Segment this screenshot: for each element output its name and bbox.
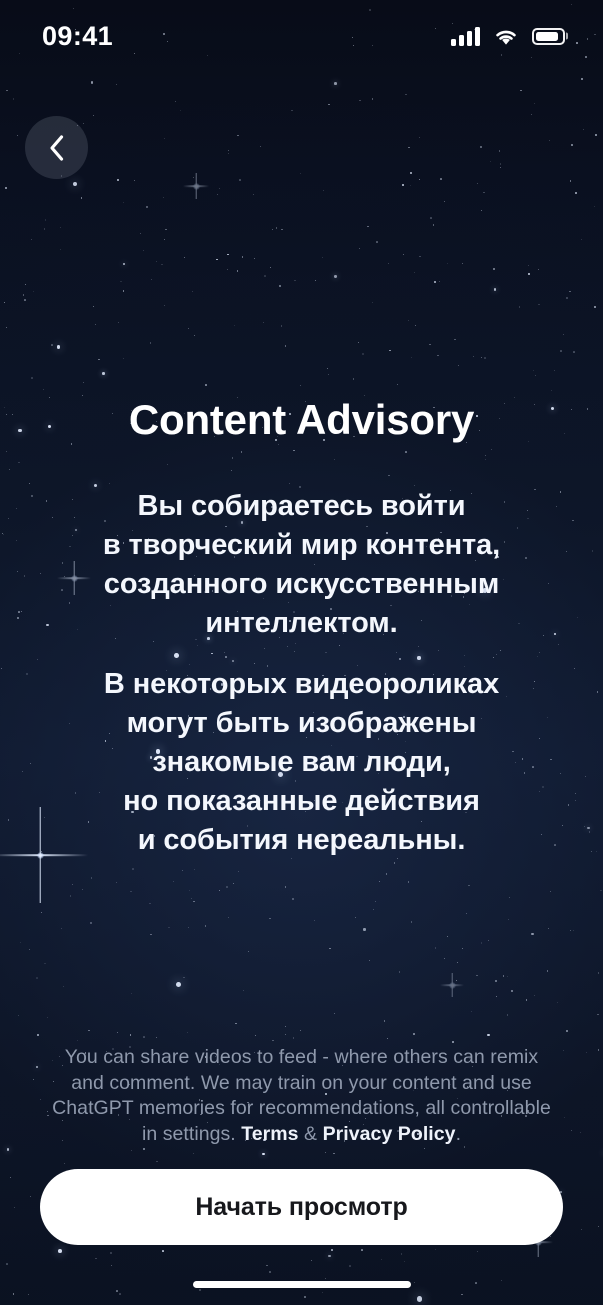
battery-icon bbox=[532, 28, 565, 45]
advisory-paragraph-1: Вы собираетесь войти в творческий мир ко… bbox=[22, 487, 581, 643]
advisory-content: Content Advisory Вы собираетесь войти в … bbox=[0, 396, 603, 860]
privacy-policy-link[interactable]: Privacy Policy bbox=[323, 1123, 456, 1145]
cellular-signal-icon bbox=[451, 27, 480, 46]
content-advisory-screen: 09:41 Content Advisory Вы собираетесь во… bbox=[0, 0, 603, 1305]
chevron-left-icon bbox=[48, 134, 65, 162]
back-button[interactable] bbox=[25, 116, 88, 179]
terms-link[interactable]: Terms bbox=[241, 1123, 298, 1145]
status-bar-icons bbox=[451, 27, 565, 46]
status-bar: 09:41 bbox=[0, 0, 603, 72]
status-bar-time: 09:41 bbox=[42, 23, 113, 50]
wifi-icon bbox=[493, 27, 519, 46]
fineprint-separator: & bbox=[299, 1123, 323, 1145]
page-title: Content Advisory bbox=[22, 396, 581, 443]
fineprint-text-end: . bbox=[456, 1123, 461, 1145]
home-indicator[interactable] bbox=[193, 1281, 411, 1288]
start-watching-button[interactable]: Начать просмотр bbox=[40, 1169, 563, 1245]
advisory-paragraph-2: В некоторых видеороликах могут быть изоб… bbox=[22, 665, 581, 860]
fineprint-disclaimer: You can share videos to feed - where oth… bbox=[0, 1045, 603, 1147]
